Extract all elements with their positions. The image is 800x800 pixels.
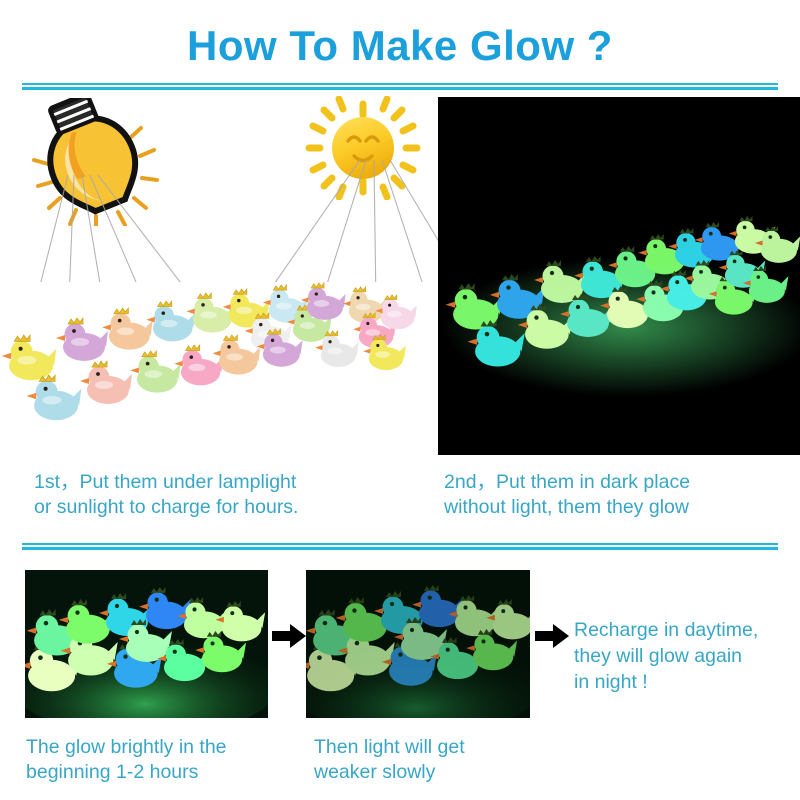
glowing-ducks-dark-photo xyxy=(438,97,800,455)
step-1-caption: 1st，Put them under lamplight or sunlight… xyxy=(34,470,414,520)
pastel-ducks-daylight-photo: .dk .dbody { stroke: rgba(150,150,150,0.… xyxy=(0,282,430,462)
sun-icon xyxy=(298,96,428,200)
right-arrow-icon xyxy=(272,623,306,649)
bright-glow-photo xyxy=(25,570,268,718)
infographic-root: How To Make Glow ? xyxy=(0,0,800,800)
divider-top xyxy=(22,83,778,90)
page-title: How To Make Glow ? xyxy=(0,22,800,70)
step-2-caption: 2nd，Put them in dark place without light… xyxy=(444,470,794,520)
light-bulb-icon xyxy=(30,98,170,226)
step-3-caption: The glow brightly in the beginning 1-2 h… xyxy=(26,735,296,785)
divider-middle xyxy=(22,543,778,550)
step-5-caption: Recharge in daytime, they will glow agai… xyxy=(574,617,798,695)
right-arrow-icon xyxy=(535,623,569,649)
step-4-caption: Then light will get weaker slowly xyxy=(314,735,544,785)
weak-glow-photo xyxy=(306,570,530,718)
